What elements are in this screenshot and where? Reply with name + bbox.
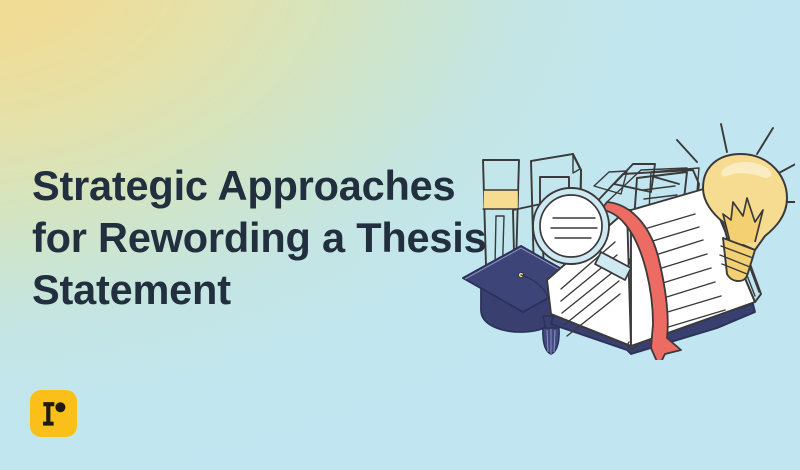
page-title-line-3: Statement <box>32 264 472 316</box>
banner: Strategic Approaches for Rewording a The… <box>0 0 800 470</box>
logo-tile <box>30 390 77 437</box>
study-materials-illustration: .ol { fill:none; stroke:#3A3A3A; stroke-… <box>455 98 795 360</box>
logo-glyph-dot <box>55 402 65 412</box>
page-title-line-1: Strategic Approaches <box>32 160 472 212</box>
page-title: Strategic Approaches for Rewording a The… <box>32 160 472 316</box>
brand-logo[interactable] <box>30 390 77 437</box>
page-title-line-2: for Rewording a Thesis <box>32 212 472 264</box>
